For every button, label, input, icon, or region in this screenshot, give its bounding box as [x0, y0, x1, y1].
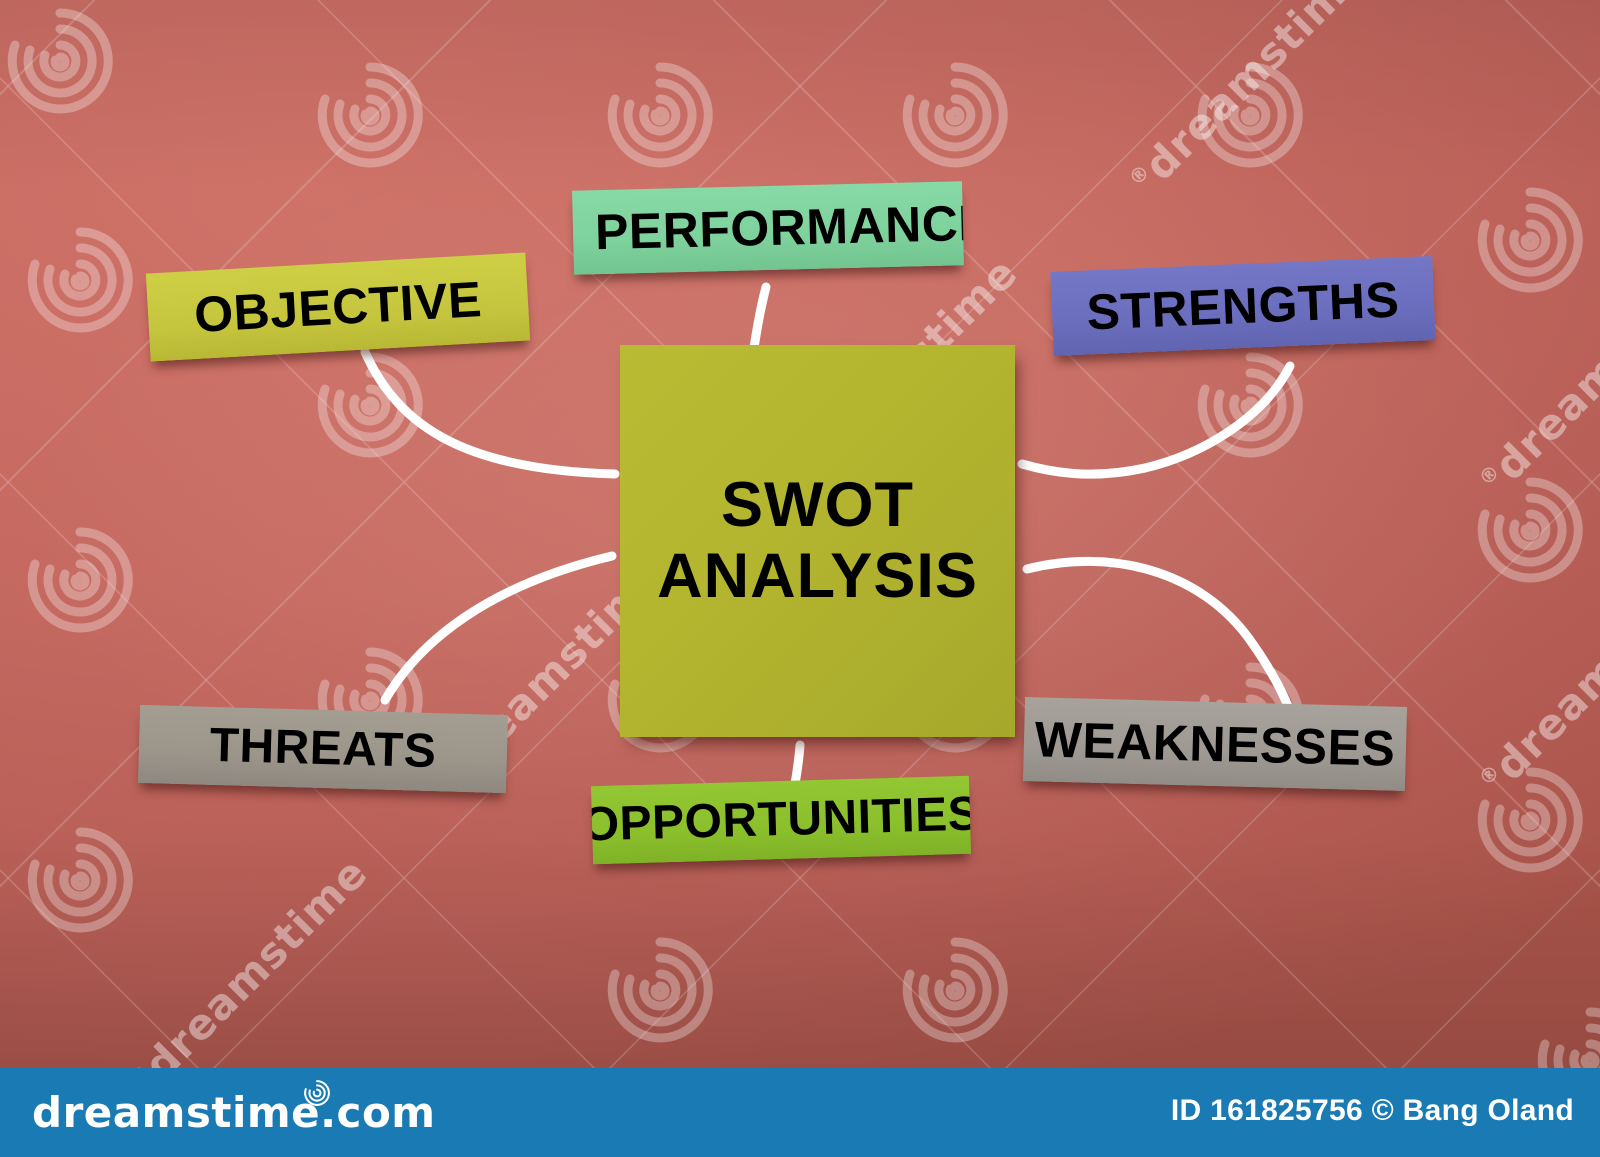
sticky-note-opportunities[interactable]: OPPORTUNITIES: [591, 776, 971, 865]
sticky-note-strengths[interactable]: STRENGTHS: [1050, 256, 1435, 356]
sticky-note-weaknesses[interactable]: WEAKNESSES: [1023, 697, 1407, 791]
note-label-threats: THREATS: [209, 722, 437, 776]
screenshot-root: ®dreamstime®dreamstime®dreamstime®dreams…: [0, 0, 1600, 1157]
sticky-note-swot-analysis[interactable]: SWOT ANALYSIS: [620, 345, 1015, 737]
note-label-swot-line2: ANALYSIS: [657, 541, 978, 612]
note-label-performance: PERFORMANCE.: [594, 197, 964, 257]
note-label-strengths: STRENGTHS: [1086, 274, 1401, 337]
sticky-note-performance[interactable]: PERFORMANCE.: [572, 181, 964, 275]
note-label-weaknesses: WEAKNESSES: [1034, 714, 1396, 773]
image-id-credit: ID 161825756 © Bang Oland: [1171, 1094, 1574, 1128]
dreamstime-footer-bar: dreamstime.com ID 161825756 © Bang Oland: [0, 1068, 1600, 1157]
sticky-note-threats[interactable]: THREATS: [138, 705, 508, 793]
dreamstime-logo-text: dreamstime.com: [32, 1088, 436, 1137]
note-label-opportunities: OPPORTUNITIES: [591, 790, 971, 849]
note-label-swot-line1: SWOT: [721, 470, 914, 541]
note-label-objective: OBJECTIVE: [193, 274, 483, 340]
dreamstime-spiral-icon: [300, 1076, 334, 1110]
